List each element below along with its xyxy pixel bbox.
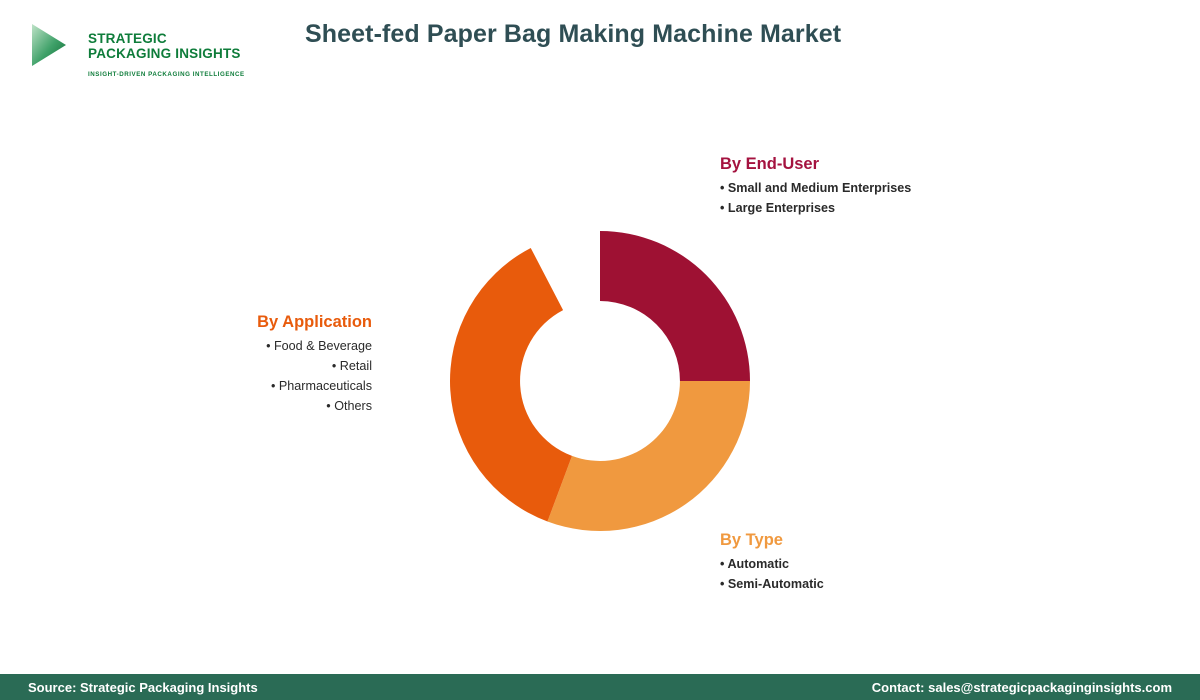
brand-logo: STRATEGIC PACKAGING INSIGHTS INSIGHT-DRI…	[28, 14, 228, 76]
segment-block-end-user: By End-User • Small and Medium Enterpris…	[720, 155, 911, 218]
segment-list-end-user: • Small and Medium Enterprises • Large E…	[720, 178, 911, 218]
logo-wordmark: STRATEGIC PACKAGING INSIGHTS	[88, 32, 241, 61]
segment-heading-type: By Type	[720, 531, 824, 550]
list-item: • Others	[150, 396, 372, 416]
donut-slice	[450, 248, 572, 522]
segment-heading-application: By Application	[150, 313, 372, 332]
logo-tagline: INSIGHT-DRIVEN PACKAGING INTELLIGENCE	[88, 71, 245, 78]
segment-list-application: • Food & Beverage • Retail • Pharmaceuti…	[150, 336, 372, 416]
segment-block-application: By Application • Food & Beverage • Retai…	[150, 313, 372, 416]
list-item: • Pharmaceuticals	[150, 376, 372, 396]
donut-slice	[600, 231, 750, 381]
donut-slice	[547, 381, 750, 531]
list-item: • Retail	[150, 356, 372, 376]
footer-contact: Contact: sales@strategicpackaginginsight…	[872, 680, 1172, 695]
list-item: • Large Enterprises	[720, 198, 911, 218]
list-item: • Small and Medium Enterprises	[720, 178, 911, 198]
segment-heading-end-user: By End-User	[720, 155, 911, 174]
logo-line-1: STRATEGIC	[88, 32, 241, 47]
segmentation-donut-chart	[450, 231, 750, 531]
footer-bar: Source: Strategic Packaging Insights Con…	[0, 674, 1200, 700]
footer-source: Source: Strategic Packaging Insights	[28, 680, 258, 695]
list-item: • Semi-Automatic	[720, 574, 824, 594]
infographic-page: STRATEGIC PACKAGING INSIGHTS INSIGHT-DRI…	[0, 0, 1200, 700]
list-item: • Food & Beverage	[150, 336, 372, 356]
logo-line-2: PACKAGING INSIGHTS	[88, 47, 241, 62]
list-item: • Automatic	[720, 554, 824, 574]
segment-block-type: By Type • Automatic • Semi-Automatic	[720, 531, 824, 594]
page-title: Sheet-fed Paper Bag Making Machine Marke…	[305, 20, 841, 49]
green-chevron-icon	[28, 22, 70, 68]
segment-list-type: • Automatic • Semi-Automatic	[720, 554, 824, 594]
